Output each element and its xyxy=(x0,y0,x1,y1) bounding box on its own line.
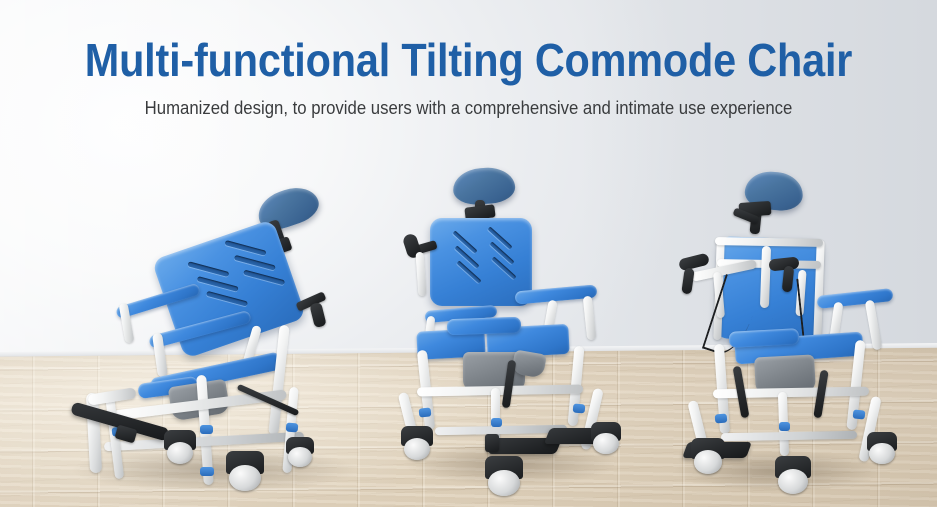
caster-wheel xyxy=(778,469,808,494)
chair-right-frame-accent-ring xyxy=(779,422,790,431)
backrest-vent-slot xyxy=(206,291,248,307)
chair-center-frame-accent-ring xyxy=(573,403,586,413)
backrest-vent-slot xyxy=(234,255,276,271)
chair-center-footplate-hinge xyxy=(485,434,499,452)
chair-right-armrest-right xyxy=(817,288,894,309)
chair-left-frame-accent-ring xyxy=(200,425,213,434)
backrest-vent-slot xyxy=(243,270,285,286)
product-banner: Multi-functional Tilting Commode Chair H… xyxy=(0,0,937,507)
chair-center-caster-front-left xyxy=(401,426,433,460)
chair-center-caster-front-right xyxy=(485,456,523,496)
caster-wheel xyxy=(869,443,894,464)
chair-center-frame-accent-ring xyxy=(491,418,502,427)
caster-wheel xyxy=(288,447,312,467)
chair-left-lever-grip xyxy=(309,302,326,328)
backrest-vent-slot xyxy=(225,240,267,256)
page-subtitle: Humanized design, to provide users with … xyxy=(33,98,904,119)
backrest-vent-slot xyxy=(197,276,239,292)
chair-center-frame-cross-rail xyxy=(417,385,583,397)
backrest-vent-slot xyxy=(187,261,229,277)
caster-wheel xyxy=(229,465,261,491)
chair-right-brake-lever-left xyxy=(681,267,695,294)
chair-right-caster-front-left xyxy=(691,438,725,474)
product-chair-right xyxy=(655,160,905,500)
chair-right-caster-front-right xyxy=(775,456,811,494)
chair-left-caster-rear xyxy=(164,430,196,464)
chair-center-headrest xyxy=(452,166,516,206)
chair-left-caster-far xyxy=(286,437,314,467)
chair-right-caster-rear-right xyxy=(867,432,897,464)
product-chair-center xyxy=(395,160,625,500)
chair-left-frame-accent-ring xyxy=(200,467,214,476)
chair-right-frame-accent-ring xyxy=(715,413,728,423)
caster-wheel xyxy=(488,470,520,496)
chair-left-caster-front xyxy=(226,451,264,491)
chair-right-frame-accent-ring xyxy=(853,409,866,419)
caster-wheel xyxy=(694,450,723,474)
product-chair-left xyxy=(60,175,380,505)
chair-center-armrest-right-support xyxy=(583,296,597,341)
chair-center-seat-cushion-rear xyxy=(447,317,522,336)
caster-wheel xyxy=(404,438,431,460)
chair-right-frame-lower-brace xyxy=(721,431,857,441)
chair-right-push-grip-left xyxy=(678,253,710,272)
chair-center-frame-accent-ring xyxy=(419,407,432,417)
page-title: Multi-functional Tilting Commode Chair xyxy=(47,36,890,84)
chair-center-handle-post xyxy=(415,252,426,296)
chair-right-armrest-link xyxy=(865,300,883,351)
caster-wheel xyxy=(167,442,194,464)
chair-center-caster-rear-right xyxy=(591,422,621,454)
caster-wheel xyxy=(593,433,618,454)
chair-left-frame-accent-ring xyxy=(286,422,299,432)
